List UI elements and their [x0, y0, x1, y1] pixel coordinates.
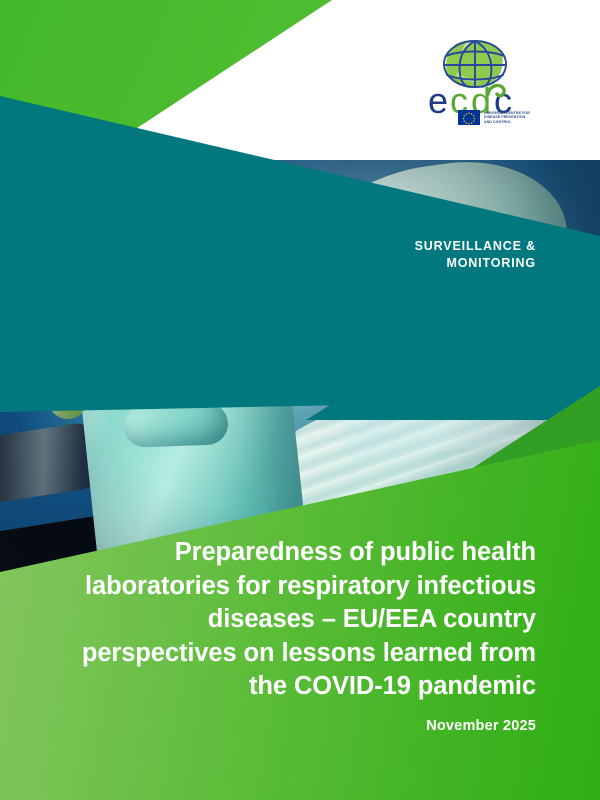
publication-date: November 2025 — [236, 718, 536, 734]
series-label: SURVEILLANCE & MONITORING — [276, 238, 536, 272]
eu-flag-icon — [458, 110, 480, 125]
report-cover-page: e c d c — [0, 0, 600, 800]
ecdc-logo[interactable]: e c d c — [428, 34, 548, 134]
logo-strapline-text: EUROPEAN CENTRE FOR DISEASE PREVENTION A… — [484, 110, 530, 124]
svg-text:e: e — [428, 80, 448, 121]
page-title: Preparedness of public health laboratori… — [56, 536, 536, 704]
logo-strapline: EUROPEAN CENTRE FOR DISEASE PREVENTION A… — [458, 110, 530, 125]
